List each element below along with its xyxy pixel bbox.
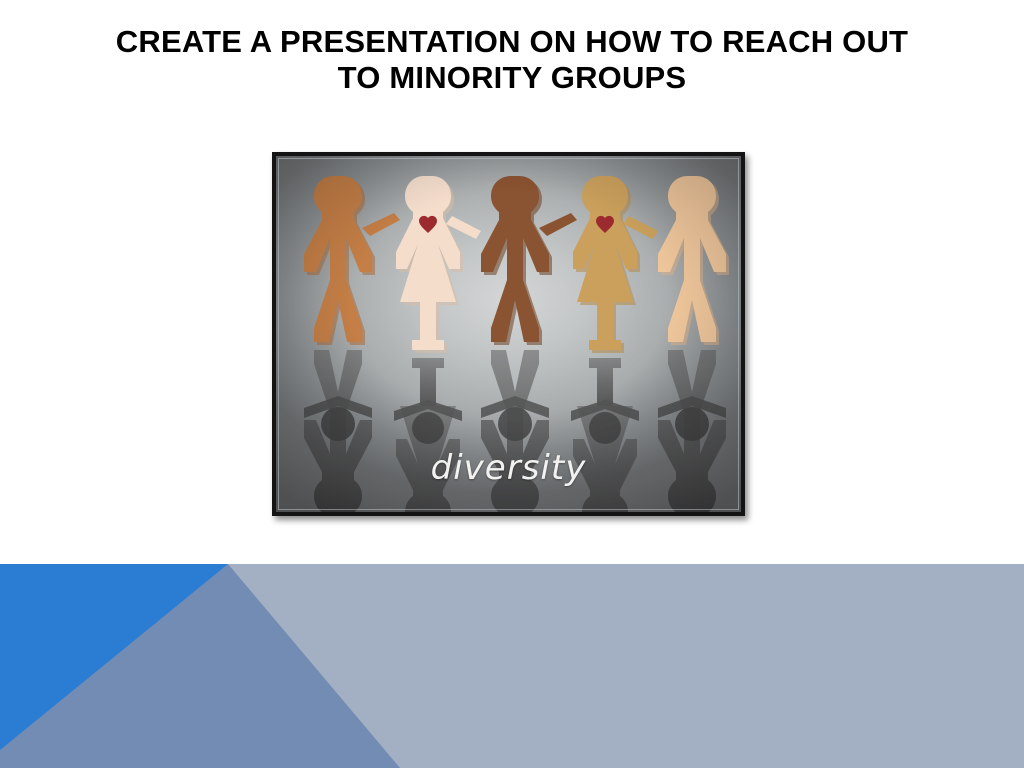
diversity-picture: diversity: [272, 152, 745, 516]
figure-woman-2: [573, 176, 640, 353]
figure-man-2: [481, 176, 552, 345]
figure-man-3: [658, 176, 729, 345]
diversity-caption: diversity: [276, 448, 741, 488]
footer-shapes: [0, 564, 1024, 768]
page-title: Create a presentation on how to reach ou…: [90, 24, 934, 96]
figure-man-1: [304, 176, 375, 345]
slide-canvas: Create a presentation on how to reach ou…: [0, 0, 1024, 768]
figure-woman-1: [396, 176, 463, 353]
picture-canvas: diversity: [276, 156, 741, 512]
footer-decoration: [0, 564, 1024, 768]
